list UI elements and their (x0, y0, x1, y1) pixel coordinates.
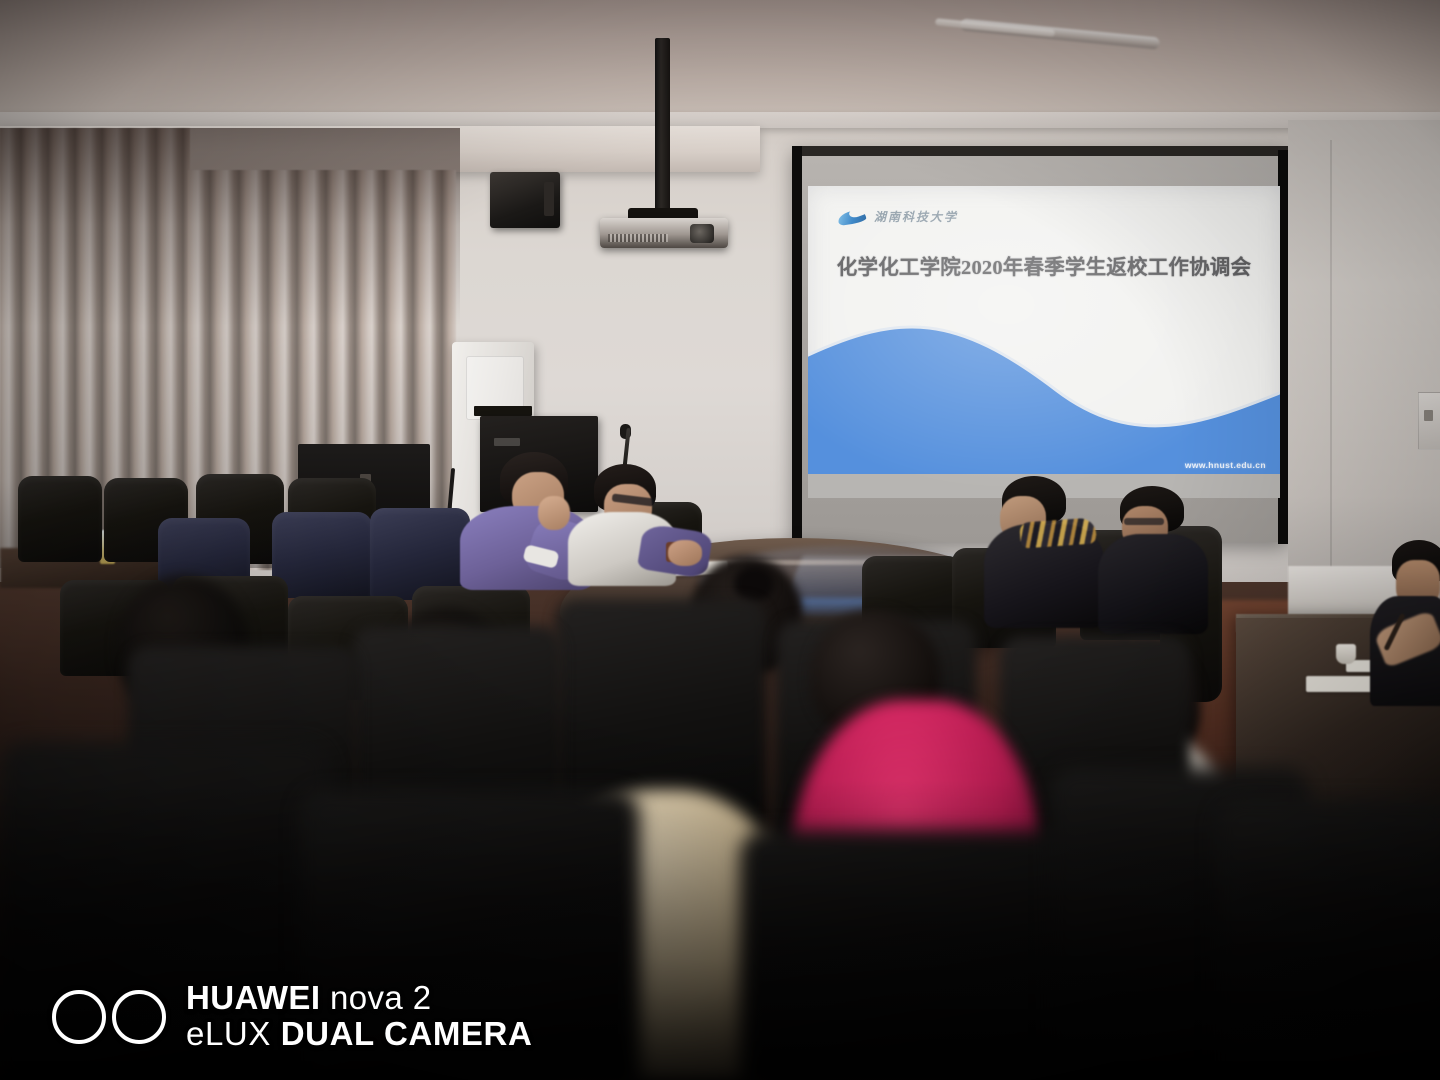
wall-seam (1330, 140, 1332, 570)
chair (740, 830, 1100, 1080)
torso (1098, 534, 1208, 634)
ceiling (0, 0, 1440, 120)
chair (300, 790, 640, 1080)
av-rack-bar (474, 406, 532, 416)
paper-stack (1306, 676, 1380, 692)
slide-wave-graphic (808, 304, 1280, 474)
teacup (1336, 644, 1356, 664)
chair (1216, 800, 1440, 1080)
university-logo-text: 湖南科技大学 (874, 208, 958, 225)
light-switch-icon (1424, 410, 1433, 421)
chair (0, 742, 330, 1080)
eyeglasses-icon (1124, 518, 1164, 525)
projector-lens-icon (690, 224, 714, 243)
right-wall (1288, 120, 1440, 590)
hand (668, 540, 702, 566)
striped-collar (1019, 517, 1097, 548)
university-emblem-icon (838, 208, 868, 225)
photograph: 湖南科技大学 化学化工学院2020年春季学生返校工作协调会 www.hnust.… (0, 0, 1440, 1080)
slide-url: www.hnust.edu.cn (1185, 460, 1266, 470)
ceiling-speaker-icon (490, 172, 560, 228)
projected-slide: 湖南科技大学 化学化工学院2020年春季学生返校工作协调会 www.hnust.… (808, 186, 1280, 498)
university-logo: 湖南科技大学 (838, 208, 958, 225)
hand (538, 496, 570, 530)
hair-bun (734, 566, 774, 602)
chair (18, 476, 102, 562)
screen-frame-left (792, 146, 802, 542)
projector-vent (608, 234, 668, 242)
screen-top-bar (792, 146, 1288, 156)
projector-pole (655, 38, 670, 216)
slide-title: 化学化工学院2020年春季学生返校工作协调会 (808, 250, 1280, 280)
wall-switch-plate (1418, 392, 1440, 450)
